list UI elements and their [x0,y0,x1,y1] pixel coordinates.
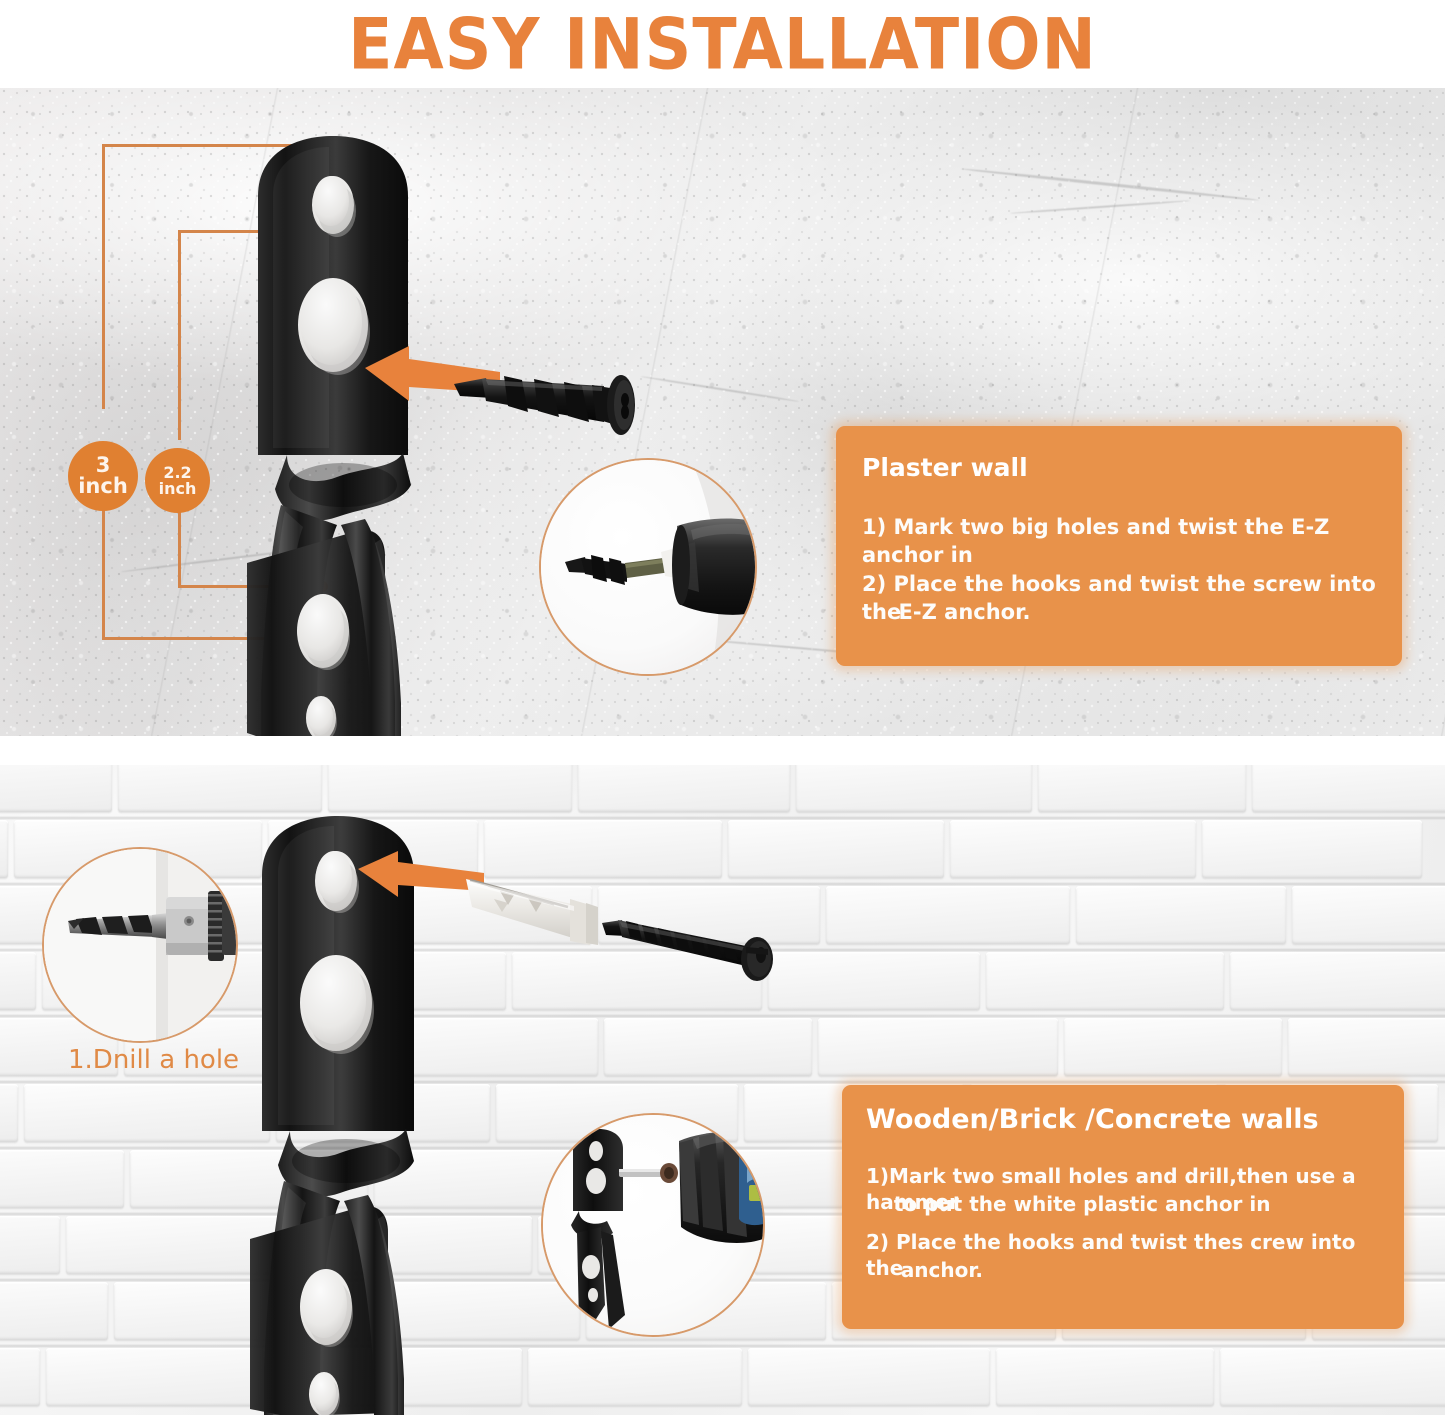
callout-title-brick: Wooden/Brick /Concrete walls [866,1105,1319,1135]
brick-course [0,1345,1445,1411]
panel-plaster-wall: 3 inch 2.2 inch [0,88,1445,736]
panel-brick-wall: 1.Dnill a hole [0,765,1445,1415]
page-title: EASY INSTALLATION [348,9,1097,80]
measure-line-3inch-left2 [102,508,105,640]
black-screw [600,913,782,985]
measure-line-22inch-left2 [178,510,181,588]
badge-3-inch: 3 inch [68,441,138,511]
callout-title-plaster: Plaster wall [862,454,1028,482]
badge-2-2-inch: 2.2 inch [145,448,210,513]
inset-drill-hole-caption: 1.Dnill a hole [68,1045,239,1075]
brick-course [0,765,1445,817]
header-bar: EASY INSTALLATION [0,0,1445,88]
inset-driver-screwing [541,1113,765,1337]
callout-step-2-brick-cont: anchor. [866,1257,1388,1283]
callout-step-1-brick-cont: to put the white plastic anchor in [866,1191,1388,1217]
inset-drill-hole [42,847,238,1043]
inset-anchor-driving [539,458,757,676]
callout-step-2-plaster-cont: E-Z anchor. [862,599,1382,627]
measure-line-3inch-left [102,144,105,409]
hook-bracket-plaster [225,133,460,736]
measure-line-22inch-left [178,230,181,440]
ez-anchor [452,360,652,448]
callout-step-1-plaster: 1) Mark two big holes and twist the E-Z … [862,514,1382,569]
